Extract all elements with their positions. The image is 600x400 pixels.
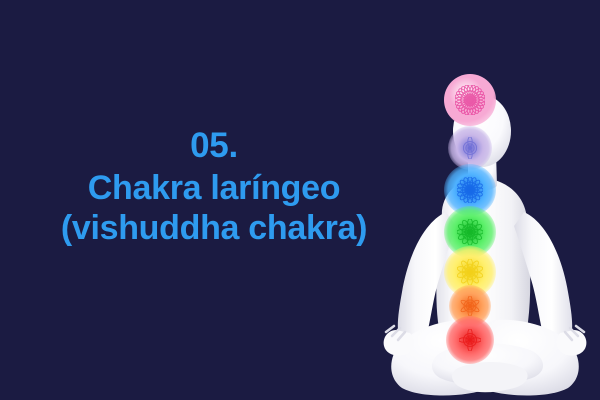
meditating-figure <box>380 0 600 400</box>
head <box>453 95 511 167</box>
chakra-number: 05. <box>18 126 410 167</box>
chakra-title: Chakra laríngeo <box>18 169 410 208</box>
right-hand <box>557 330 587 356</box>
left-hand <box>384 330 414 356</box>
slide-canvas: 05. Chakra laríngeo (vishuddha chakra) <box>0 0 600 400</box>
chakra-sanskrit-name: (vishuddha chakra) <box>18 209 410 248</box>
figure-illustration <box>380 0 600 400</box>
text-block: 05. Chakra laríngeo (vishuddha chakra) <box>18 126 410 248</box>
